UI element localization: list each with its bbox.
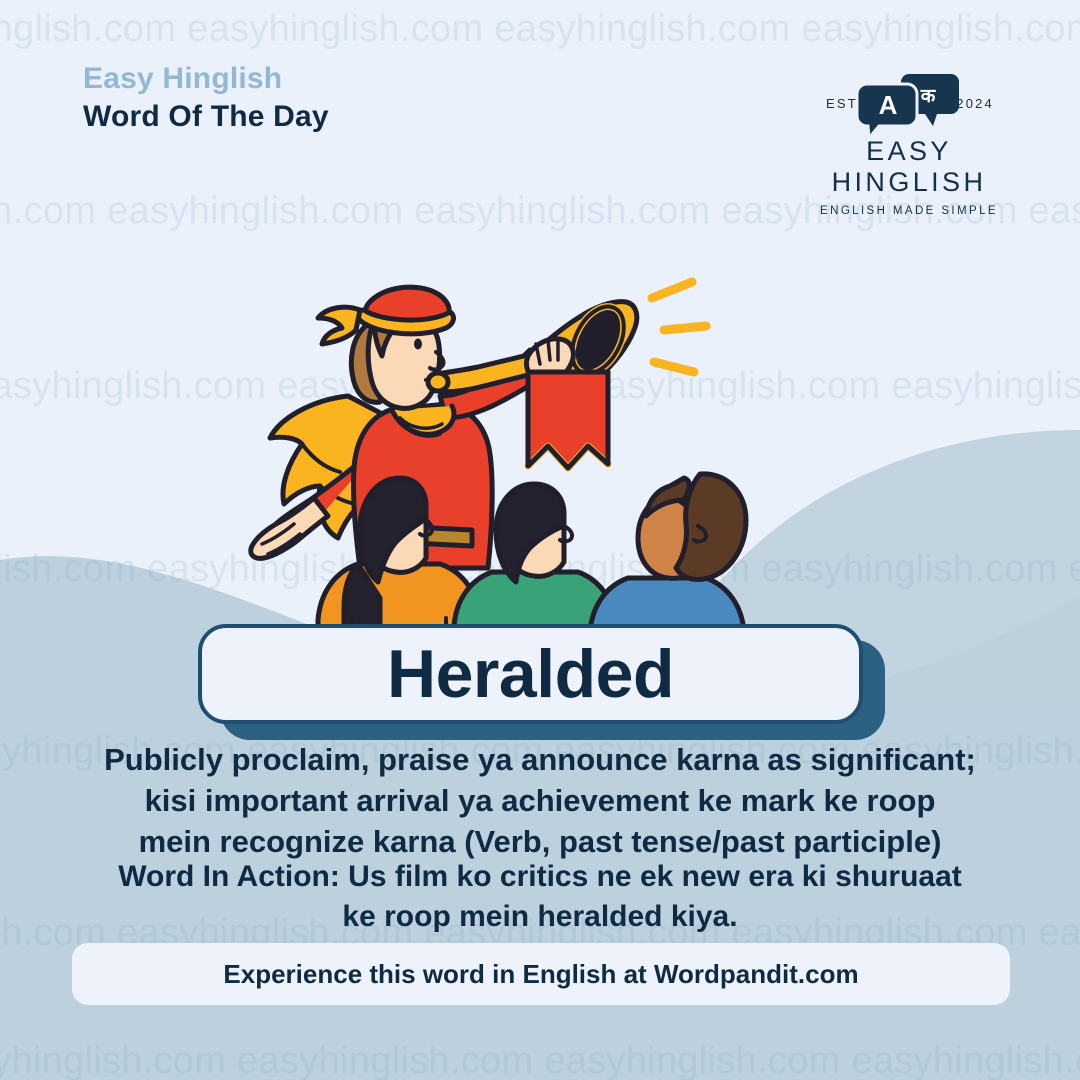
word-card: Heralded: [198, 624, 893, 736]
sound-lines-icon: [652, 282, 706, 372]
poster-canvas: easyhinglish.com easyhinglish.com easyhi…: [0, 0, 1080, 1080]
bubble-english-letter: A: [879, 90, 898, 120]
header: Easy Hinglish Word Of The Day ESTD 2024 …: [0, 0, 1080, 180]
brand-line-easy-hinglish: Easy Hinglish: [83, 62, 329, 97]
word-in-action-line: Word In Action: Us film ko critics ne ek…: [30, 857, 1050, 897]
meaning-line: Publicly proclaim, praise ya announce ka…: [40, 739, 1040, 780]
cta-banner[interactable]: Experience this word in English at Wordp…: [72, 943, 1010, 1005]
word-in-action-line: ke roop mein heralded kiya.: [30, 897, 1050, 937]
word-of-the-day: Heralded: [387, 635, 674, 713]
hero-illustration: [240, 268, 760, 658]
logo-wordmark: EASY HINGLISH: [794, 136, 1024, 198]
logo: ESTD 2024 क A EASY HINGLISH ENGLISH MADE…: [794, 72, 1024, 217]
word-in-action: Word In Action: Us film ko critics ne ek…: [30, 857, 1050, 937]
speech-bubbles-icon: क A: [855, 72, 963, 139]
word-card-body: Heralded: [198, 624, 863, 724]
brand-block: Easy Hinglish Word Of The Day: [83, 62, 329, 137]
page-title: Word Of The Day: [83, 97, 329, 138]
meaning-line: kisi important arrival ya achievement ke…: [40, 780, 1040, 821]
bubble-hindi-letter: क: [920, 86, 937, 107]
logo-tagline: ENGLISH MADE SIMPLE: [794, 205, 1024, 217]
logo-emblem-row: ESTD 2024 क A: [794, 72, 1024, 134]
cta-label: Experience this word in English at Wordp…: [223, 959, 858, 990]
word-meaning: Publicly proclaim, praise ya announce ka…: [40, 739, 1040, 863]
